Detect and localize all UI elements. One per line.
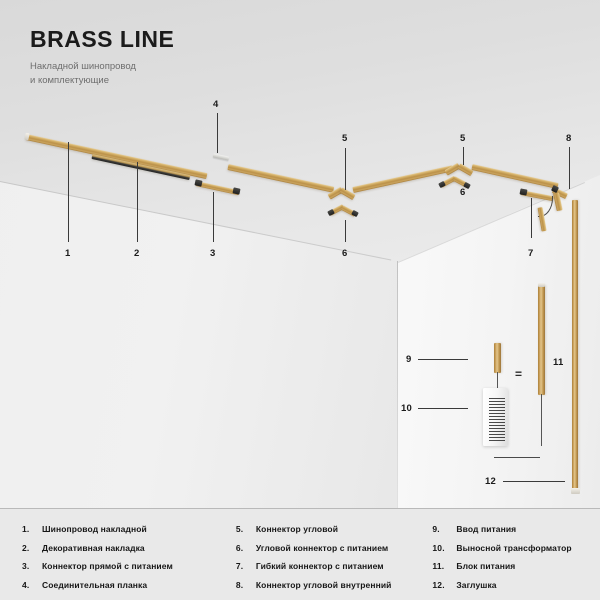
- legend-item-number: 7.: [236, 561, 256, 571]
- leader-line-8: [569, 147, 570, 189]
- legend-item: 10. Выносной трансформатор: [432, 543, 600, 553]
- wall-corner-edge: [397, 261, 398, 508]
- legend-item-label: Ввод питания: [456, 524, 516, 534]
- room-illustration: 1 2 3 4 5 6 5 6 7 8 9 10 11: [0, 0, 600, 508]
- power-supply-unit-11: [538, 285, 545, 395]
- legend-item: 1. Шинопровод накладной: [22, 524, 236, 534]
- leader-line-2: [137, 162, 138, 242]
- callout-11: 11: [553, 358, 563, 368]
- callout-6a: 6: [342, 249, 347, 259]
- leader-line-7: [531, 198, 532, 238]
- leader-line-6a: [345, 220, 346, 242]
- callout-10: 10: [401, 404, 412, 414]
- callout-5b: 5: [460, 134, 465, 144]
- legend-item: 11. Блок питания: [432, 561, 600, 571]
- legend-item-number: 2.: [22, 543, 42, 553]
- callout-12: 12: [485, 477, 496, 487]
- legend-item-label: Декоративная накладка: [42, 543, 145, 553]
- legend-item-label: Заглушка: [456, 580, 496, 590]
- callout-2: 2: [134, 249, 139, 259]
- legend-item-label: Соединительная планка: [42, 580, 147, 590]
- legend-item-number: 11.: [432, 561, 456, 571]
- remote-transformer-10: [483, 388, 508, 446]
- legend-item-number: 5.: [236, 524, 256, 534]
- header-block: BRASS LINE Накладной шинопровод и компле…: [30, 28, 174, 88]
- leader-line-12: [503, 481, 565, 482]
- subtitle-line-2: и комплектующие: [30, 74, 174, 88]
- transformer-label-stripe-top: [489, 398, 505, 442]
- leader-line-9: [418, 359, 468, 360]
- power-supply-11-top-cap: [538, 283, 545, 287]
- subtitle-line-1: Накладной шинопровод: [30, 60, 174, 74]
- equals-sign: =: [515, 367, 522, 381]
- leader-line-3: [213, 192, 214, 242]
- legend-item: 9. Ввод питания: [432, 524, 600, 534]
- power-supply-11-cable: [541, 394, 546, 446]
- legend-item: 2. Декоративная накладка: [22, 543, 236, 553]
- flexible-connector-7-endcap: [519, 188, 527, 195]
- callout-4: 4: [213, 100, 218, 110]
- legend-item-number: 1.: [22, 524, 42, 534]
- legend-item-label: Коннектор прямой с питанием: [42, 561, 173, 571]
- leader-line-1: [68, 142, 69, 242]
- callout-6b: 6: [460, 188, 465, 198]
- legend-item-number: 4.: [22, 580, 42, 590]
- legend-item-label: Выносной трансформатор: [456, 543, 571, 553]
- legend-columns: 1. Шинопровод накладной 2. Декоративная …: [0, 508, 600, 598]
- legend-item-number: 6.: [236, 543, 256, 553]
- leader-line-4: [217, 113, 218, 153]
- legend-item-label: Коннектор угловой внутренний: [256, 580, 392, 590]
- legend-item-label: Коннектор угловой: [256, 524, 338, 534]
- legend-item-number: 12.: [432, 580, 456, 590]
- legend-item-number: 9.: [432, 524, 456, 534]
- callout-7: 7: [528, 249, 533, 259]
- legend-item: 3. Коннектор прямой с питанием: [22, 561, 236, 571]
- legend-item: 8. Коннектор угловой внутренний: [236, 580, 433, 590]
- callout-8: 8: [566, 134, 571, 144]
- power-feed-in-9-cable: [497, 372, 501, 389]
- legend-item-label: Угловой коннектор с питанием: [256, 543, 388, 553]
- page-title: BRASS LINE: [30, 28, 174, 51]
- legend-item-label: Гибкий коннектор с питанием: [256, 561, 384, 571]
- callout-9: 9: [406, 355, 411, 365]
- callout-5a: 5: [342, 134, 347, 144]
- vertical-track-right-wall: [572, 200, 578, 490]
- legend-panel: 1. Шинопровод накладной 2. Декоративная …: [0, 508, 600, 600]
- legend-item-number: 3.: [22, 561, 42, 571]
- legend-item-number: 10.: [432, 543, 456, 553]
- leader-line-5a: [345, 148, 346, 190]
- leader-line-10: [418, 408, 468, 409]
- legend-item: 4. Соединительная планка: [22, 580, 236, 590]
- product-diagram-page: 1 2 3 4 5 6 5 6 7 8 9 10 11: [0, 0, 600, 600]
- leader-line-5b: [463, 147, 464, 165]
- legend-item-number: 8.: [236, 580, 256, 590]
- legend-column-1: 1. Шинопровод накладной 2. Декоративная …: [0, 508, 236, 598]
- power-feed-in-9: [494, 343, 501, 373]
- legend-item-label: Блок питания: [456, 561, 515, 571]
- legend-item: 7. Гибкий коннектор с питанием: [236, 561, 433, 571]
- end-cap-12: [571, 488, 580, 494]
- legend-item: 5. Коннектор угловой: [236, 524, 433, 534]
- connector-endcap-3b: [232, 187, 240, 194]
- legend-column-2: 5. Коннектор угловой 6. Угловой коннекто…: [236, 508, 433, 598]
- callout-3: 3: [210, 249, 215, 259]
- legend-item-label: Шинопровод накладной: [42, 524, 147, 534]
- legend-item: 12. Заглушка: [432, 580, 600, 590]
- page-subtitle: Накладной шинопровод и комплектующие: [30, 60, 174, 88]
- remote-transformer-10-cable: [494, 445, 540, 458]
- legend-column-3: 9. Ввод питания 10. Выносной трансформат…: [432, 508, 600, 598]
- legend-item: 6. Угловой коннектор с питанием: [236, 543, 433, 553]
- callout-1: 1: [65, 249, 70, 259]
- connector-endcap-3: [194, 179, 202, 186]
